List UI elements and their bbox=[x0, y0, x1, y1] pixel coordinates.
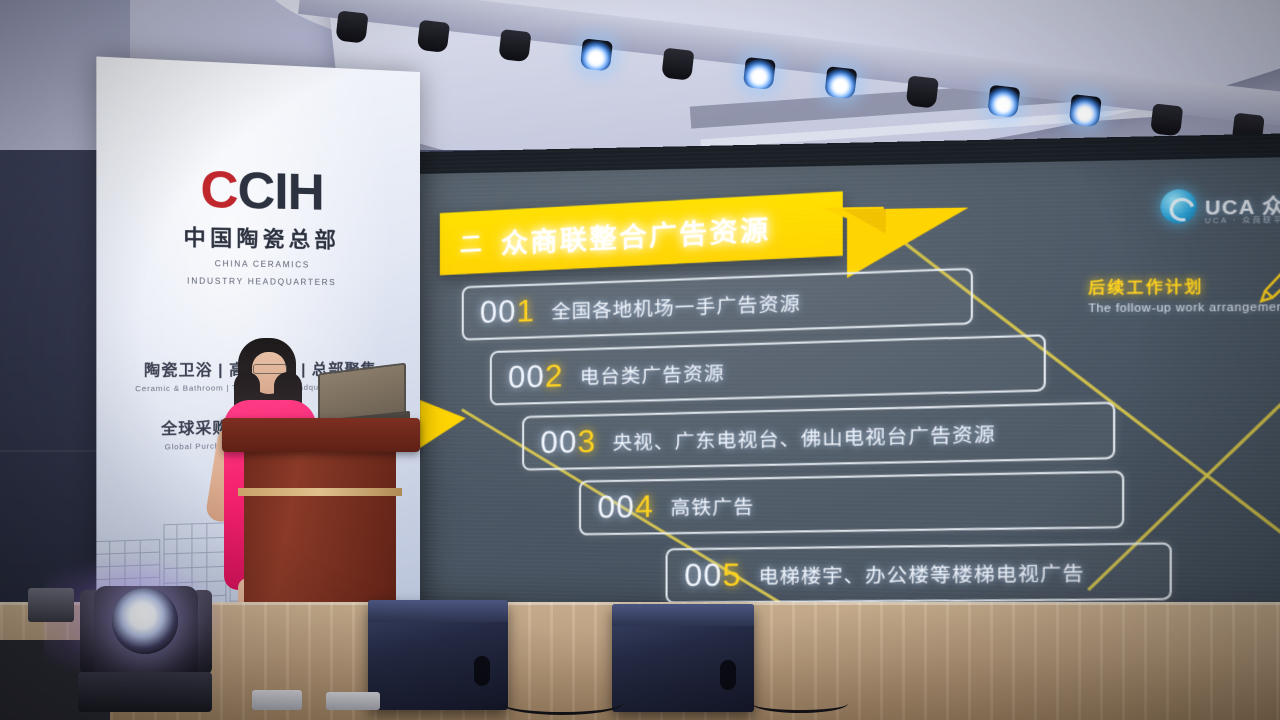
followup-title-en: The follow-up work arrangement bbox=[1088, 301, 1280, 316]
moving-head-stage-light bbox=[78, 566, 216, 716]
followup-title-cn: 后续工作计划 bbox=[1088, 273, 1280, 298]
stage-lamp-off bbox=[335, 10, 368, 43]
uca-logo: UCA 众商联 UCA · 众商联平台 bbox=[1160, 187, 1280, 224]
ccih-logo-letters-rest: CIH bbox=[238, 161, 324, 221]
list-item-label: 电台类广告资源 bbox=[580, 358, 725, 390]
yellow-ribbon-arrow-icon bbox=[821, 205, 973, 292]
uca-logo-subtext: UCA · 众商联平台 bbox=[1205, 214, 1280, 226]
stage-lamp-off bbox=[498, 29, 531, 62]
list-item-number: 005 bbox=[684, 557, 741, 595]
list-item-label: 全国各地机场一手广告资源 bbox=[551, 288, 801, 324]
list-item-label: 央视、广东电视台、佛山电视台广告资源 bbox=[613, 419, 996, 455]
stage-lamp-on bbox=[824, 66, 857, 99]
stage-lamp-off bbox=[661, 48, 694, 81]
monitor-top-panel bbox=[612, 604, 754, 626]
screen-glare bbox=[418, 132, 1280, 628]
list-item: 005 电梯楼宇、办公楼等楼梯电视广告 bbox=[666, 542, 1172, 603]
pencil-icon bbox=[1257, 267, 1280, 304]
led-presentation-screen: 二 众商联整合广告资源 001 全国各地机场一手广告资源 002 电台类广告资源… bbox=[418, 132, 1280, 628]
list-item-number: 004 bbox=[597, 488, 653, 526]
monitor-handle bbox=[720, 660, 736, 690]
monitor-handle bbox=[474, 656, 490, 686]
ccih-logo-letter-c: C bbox=[200, 160, 237, 219]
light-base bbox=[78, 672, 212, 712]
section-number: 二 bbox=[460, 226, 483, 259]
ccih-logo-english-1: CHINA CERAMICS bbox=[183, 258, 339, 272]
floor-monitor-right bbox=[612, 604, 754, 712]
list-item: 003 央视、广东电视台、佛山电视台广告资源 bbox=[522, 402, 1115, 471]
podium-top bbox=[222, 418, 420, 452]
list-item-label: 高铁广告 bbox=[670, 491, 754, 520]
stage-lamp-off bbox=[417, 20, 450, 53]
ccih-logo: CCIH 中国陶瓷总部 CHINA CERAMICS INDUSTRY HEAD… bbox=[183, 163, 339, 289]
floor-di-box bbox=[252, 690, 302, 710]
decor-diagonal-line-3 bbox=[1087, 359, 1280, 591]
floor-monitor-left bbox=[368, 600, 508, 710]
uca-logo-text: UCA 众商联 bbox=[1205, 189, 1280, 220]
uca-circle-icon bbox=[1160, 189, 1196, 224]
stage-lamp-on bbox=[743, 57, 776, 90]
ccih-logo-chinese: 中国陶瓷总部 bbox=[183, 221, 339, 255]
ccih-logo-letters: CCIH bbox=[183, 163, 339, 219]
list-item: 002 电台类广告资源 bbox=[490, 334, 1046, 405]
podium-gold-band bbox=[238, 488, 402, 496]
stage-lamp-off bbox=[1150, 103, 1183, 136]
decor-diagonal-line-2 bbox=[904, 242, 1280, 609]
stage-lamp-off bbox=[906, 75, 939, 108]
list-item: 001 全国各地机场一手广告资源 bbox=[462, 268, 973, 341]
stage-lamp-on bbox=[1069, 94, 1102, 127]
audio-cable-2 bbox=[752, 694, 848, 713]
stage-lamp-on bbox=[580, 38, 613, 71]
slide-section-header: 二 众商联整合广告资源 bbox=[440, 191, 843, 275]
light-lens bbox=[112, 588, 178, 654]
stage-equipment-box bbox=[28, 588, 74, 622]
followup-block: 后续工作计划 The follow-up work arrangement bbox=[1088, 273, 1280, 315]
list-item-label: 电梯楼宇、办公楼等楼梯电视广告 bbox=[758, 558, 1084, 589]
ccih-logo-english-2: INDUSTRY HEADQUARTERS bbox=[183, 275, 339, 289]
section-title: 众商联整合广告资源 bbox=[501, 207, 770, 261]
list-item-number: 001 bbox=[480, 293, 535, 331]
yellow-triangle-arrow-icon bbox=[420, 400, 466, 448]
list-item: 004 高铁广告 bbox=[579, 471, 1124, 536]
audio-cable-1 bbox=[500, 690, 624, 715]
floor-power-strip bbox=[326, 692, 380, 710]
stage-lamp-on bbox=[987, 85, 1020, 118]
conference-stage-photo: 二 众商联整合广告资源 001 全国各地机场一手广告资源 002 电台类广告资源… bbox=[0, 0, 1280, 720]
list-item-number: 003 bbox=[540, 423, 596, 461]
monitor-top-panel bbox=[368, 600, 508, 622]
list-item-number: 002 bbox=[508, 358, 563, 396]
decor-diagonal-line-1 bbox=[461, 408, 1098, 627]
